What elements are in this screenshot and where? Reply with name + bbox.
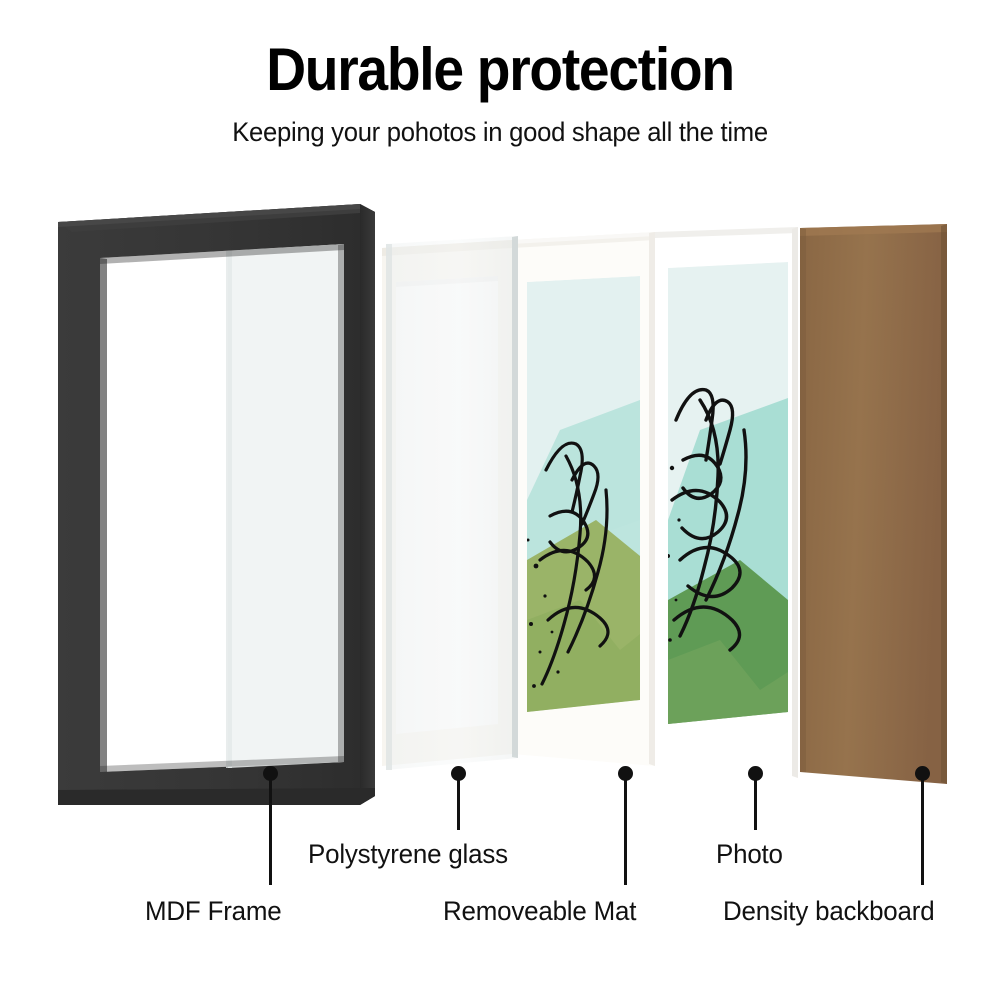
callout-label-photo: Photo (716, 838, 783, 870)
callout-label-density-backboard: Density backboard (723, 895, 934, 927)
callout-line-polystyrene-glass (457, 773, 460, 830)
layer-mdf-frame (58, 204, 375, 805)
callout-label-polystyrene-glass: Polystyrene glass (308, 838, 508, 870)
layer-removeable-mat (512, 232, 655, 766)
callout-line-density-backboard (921, 773, 924, 885)
layer-photo (655, 227, 798, 778)
callout-line-photo (754, 773, 757, 830)
callout-label-removeable-mat: Removeable Mat (443, 895, 636, 927)
callout-label-mdf-frame: MDF Frame (145, 895, 282, 927)
layer-density-backboard (800, 224, 947, 784)
callout-line-removeable-mat (624, 773, 627, 885)
infographic-canvas: Durable protection Keeping your pohotos … (0, 0, 1000, 1000)
layer-polystyrene-glass (382, 236, 518, 770)
callout-line-mdf-frame (269, 773, 272, 885)
